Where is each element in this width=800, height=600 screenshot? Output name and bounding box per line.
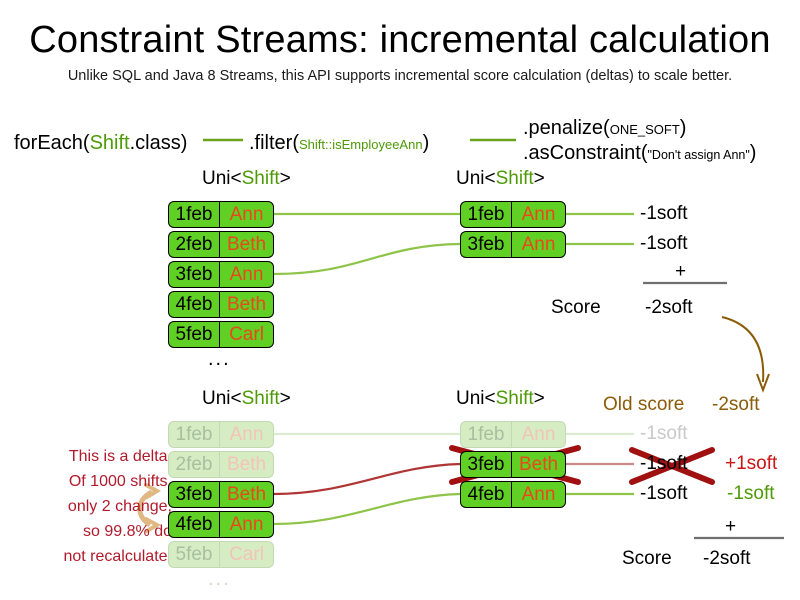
page-subtitle: Unlike SQL and Java 8 Streams, this API … — [0, 66, 800, 86]
shift-card[interactable]: 2febBeth — [168, 451, 274, 478]
shift-date: 1feb — [168, 201, 219, 228]
old-score-value: -2soft — [712, 394, 760, 416]
shift-employee: Ann — [511, 231, 566, 258]
delta-line: This is a delta. — [4, 444, 172, 469]
penalize-prefix: .penalize( — [523, 117, 610, 139]
uni-prefix: Uni< — [456, 168, 496, 189]
delta-value-kept: -1soft — [727, 483, 775, 505]
shift-card[interactable]: 2febBeth — [168, 231, 274, 258]
shift-card[interactable]: 3febAnn — [168, 261, 274, 288]
score-label: Score — [622, 548, 672, 570]
shift-employee: Beth — [219, 231, 274, 258]
shift-employee: Beth — [511, 451, 566, 478]
list-ellipsis: ... — [208, 569, 231, 589]
uni-prefix: Uni< — [202, 168, 242, 189]
score-label: Score — [551, 297, 601, 319]
filter-suffix: ) — [423, 132, 430, 154]
shift-employee: Carl — [219, 541, 274, 568]
delta-line: so 99.8% do — [4, 519, 172, 544]
for-each-suffix: .class) — [130, 132, 188, 154]
sum-plus-sign: + — [675, 262, 686, 282]
shift-employee: Carl — [219, 321, 274, 348]
shift-card[interactable]: 1febAnn — [168, 421, 274, 448]
penalize-suffix: ) — [680, 117, 687, 139]
penalty-value: -1soft — [640, 423, 688, 445]
shift-date: 4feb — [168, 291, 219, 318]
shift-card[interactable]: 4febAnn — [460, 481, 566, 508]
shift-date: 1feb — [460, 421, 511, 448]
shift-employee: Ann — [511, 421, 566, 448]
as-constraint-prefix: .asConstraint( — [523, 142, 648, 164]
delta-explanation: This is a delta. Of 1000 shifts, only 2 … — [4, 444, 172, 569]
api-penalize: .penalize(ONE_SOFT) — [523, 116, 686, 142]
shift-date: 2feb — [168, 231, 219, 258]
shift-card-removed[interactable]: 3febBeth — [460, 451, 566, 478]
api-as-constraint: .asConstraint("Don't assign Ann") — [523, 141, 756, 167]
shift-card[interactable]: 3febAnn — [460, 231, 566, 258]
shift-date: 3feb — [168, 481, 219, 508]
sum-plus-sign: + — [725, 517, 736, 537]
uni-prefix: Uni< — [456, 388, 496, 409]
shift-date: 1feb — [168, 421, 219, 448]
score-total: -2soft — [703, 548, 751, 570]
shift-employee: Ann — [219, 421, 274, 448]
shift-employee: Ann — [511, 481, 566, 508]
shift-card[interactable]: 4febBeth — [168, 291, 274, 318]
shift-date: 1feb — [460, 201, 511, 228]
list-ellipsis: ... — [208, 349, 231, 369]
shift-date: 5feb — [168, 541, 219, 568]
as-constraint-suffix: ) — [750, 142, 757, 164]
delta-line: Of 1000 shifts, — [4, 469, 172, 494]
shift-card[interactable]: 4febAnn — [168, 511, 274, 538]
uni-suffix: > — [534, 168, 545, 189]
stream-label-top-left: Uni<Shift> — [202, 168, 291, 190]
filter-arg-rest: ::isEmployeeAnn — [325, 137, 423, 152]
shift-date: 3feb — [460, 231, 511, 258]
api-for-each: forEach(Shift.class) — [14, 131, 187, 155]
for-each-type: Shift — [90, 132, 130, 154]
score-total: -2soft — [645, 297, 693, 319]
shift-employee: Beth — [219, 291, 274, 318]
stream-label-bottom-right: Uni<Shift> — [456, 388, 545, 410]
shift-employee: Ann — [219, 261, 274, 288]
shift-date: 3feb — [168, 261, 219, 288]
shift-employee: Beth — [219, 481, 274, 508]
shift-employee: Ann — [511, 201, 566, 228]
penalty-value: -1soft — [640, 233, 688, 255]
shift-employee: Ann — [219, 201, 274, 228]
penalty-value: -1soft — [640, 203, 688, 225]
penalty-value-removed: -1soft — [640, 453, 688, 475]
delta-line: only 2 change, — [4, 494, 172, 519]
as-constraint-arg: "Don't assign Ann" — [648, 148, 750, 162]
shift-date: 3feb — [460, 451, 511, 478]
stream-label-top-right: Uni<Shift> — [456, 168, 545, 190]
page-title: Constraint Streams: incremental calculat… — [0, 17, 800, 63]
shift-card[interactable]: 5febCarl — [168, 541, 274, 568]
uni-type: Shift — [496, 388, 534, 409]
shift-date: 2feb — [168, 451, 219, 478]
shift-card[interactable]: 1febAnn — [460, 421, 566, 448]
uni-type: Shift — [242, 168, 280, 189]
shift-card[interactable]: 3febBeth — [168, 481, 274, 508]
uni-prefix: Uni< — [202, 388, 242, 409]
uni-suffix: > — [280, 168, 291, 189]
shift-date: 5feb — [168, 321, 219, 348]
shift-date: 4feb — [460, 481, 511, 508]
for-each-prefix: forEach( — [14, 132, 90, 154]
penalty-value: -1soft — [640, 483, 688, 505]
penalize-arg: ONE_SOFT — [610, 122, 680, 137]
stream-label-bottom-left: Uni<Shift> — [202, 388, 291, 410]
shift-card[interactable]: 1febAnn — [460, 201, 566, 228]
filter-arg-type: Shift — [299, 137, 325, 152]
delta-line: not recalculate. — [4, 544, 172, 569]
delta-value-added: +1soft — [725, 453, 777, 475]
slide-canvas: Constraint Streams: incremental calculat… — [0, 0, 800, 600]
shift-card[interactable]: 5febCarl — [168, 321, 274, 348]
shift-date: 4feb — [168, 511, 219, 538]
uni-suffix: > — [534, 388, 545, 409]
uni-suffix: > — [280, 388, 291, 409]
old-score-label: Old score — [603, 394, 684, 416]
api-filter: .filter(Shift::isEmployeeAnn) — [249, 131, 429, 157]
filter-prefix: .filter( — [249, 132, 299, 154]
uni-type: Shift — [496, 168, 534, 189]
shift-employee: Beth — [219, 451, 274, 478]
uni-type: Shift — [242, 388, 280, 409]
shift-employee: Ann — [219, 511, 274, 538]
shift-card[interactable]: 1febAnn — [168, 201, 274, 228]
